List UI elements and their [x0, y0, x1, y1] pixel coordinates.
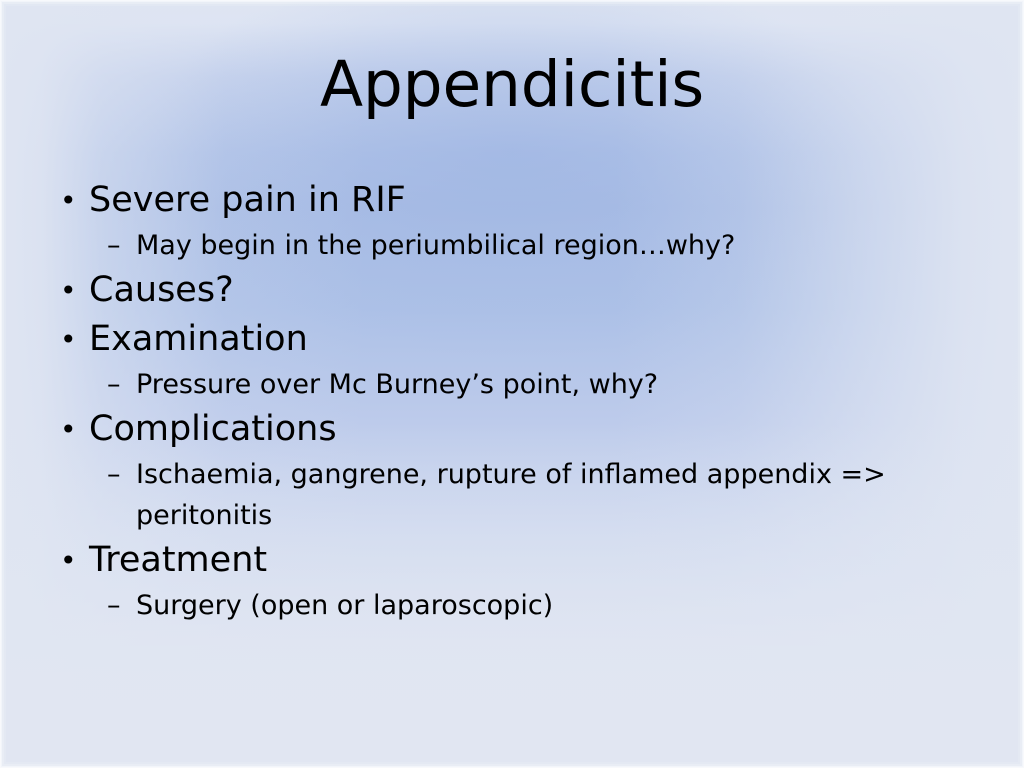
bullet-dot-icon: •	[60, 405, 89, 454]
bullet-item: • Complications	[0, 405, 1024, 454]
bullet-item: • Causes?	[0, 266, 1024, 315]
bullet-text: Complications	[89, 405, 337, 454]
bullet-item: • Examination	[0, 315, 1024, 364]
bullet-text: Examination	[89, 315, 308, 364]
bullet-dot-icon: •	[60, 315, 89, 364]
bullet-dot-icon: •	[60, 176, 89, 225]
bullet-text: Treatment	[89, 536, 267, 585]
bullet-dot-icon: •	[60, 536, 89, 585]
sub-bullet-text: Ischaemia, gangrene, rupture of inflamed…	[136, 454, 954, 536]
bullet-dot-icon: •	[60, 266, 89, 315]
sub-bullet-text: May begin in the periumbilical region…wh…	[136, 225, 735, 266]
presentation-slide: Appendicitis • Severe pain in RIF – May …	[0, 0, 1024, 768]
dash-bullet-icon: –	[107, 364, 136, 405]
sub-bullet-item: – Ischaemia, gangrene, rupture of inflam…	[0, 454, 1024, 536]
sub-bullet-item: – Pressure over Mc Burney’s point, why?	[0, 364, 1024, 405]
slide-title: Appendicitis	[0, 52, 1024, 118]
slide-body-content: • Severe pain in RIF – May begin in the …	[0, 176, 1024, 626]
sub-bullet-item: – Surgery (open or laparoscopic)	[0, 585, 1024, 626]
sub-bullet-text: Surgery (open or laparoscopic)	[136, 585, 553, 626]
dash-bullet-icon: –	[107, 585, 136, 626]
bullet-text: Severe pain in RIF	[89, 176, 406, 225]
bullet-item: • Severe pain in RIF	[0, 176, 1024, 225]
sub-bullet-text: Pressure over Mc Burney’s point, why?	[136, 364, 658, 405]
bullet-item: • Treatment	[0, 536, 1024, 585]
dash-bullet-icon: –	[107, 454, 136, 495]
dash-bullet-icon: –	[107, 225, 136, 266]
sub-bullet-item: – May begin in the periumbilical region……	[0, 225, 1024, 266]
bullet-text: Causes?	[89, 266, 234, 315]
